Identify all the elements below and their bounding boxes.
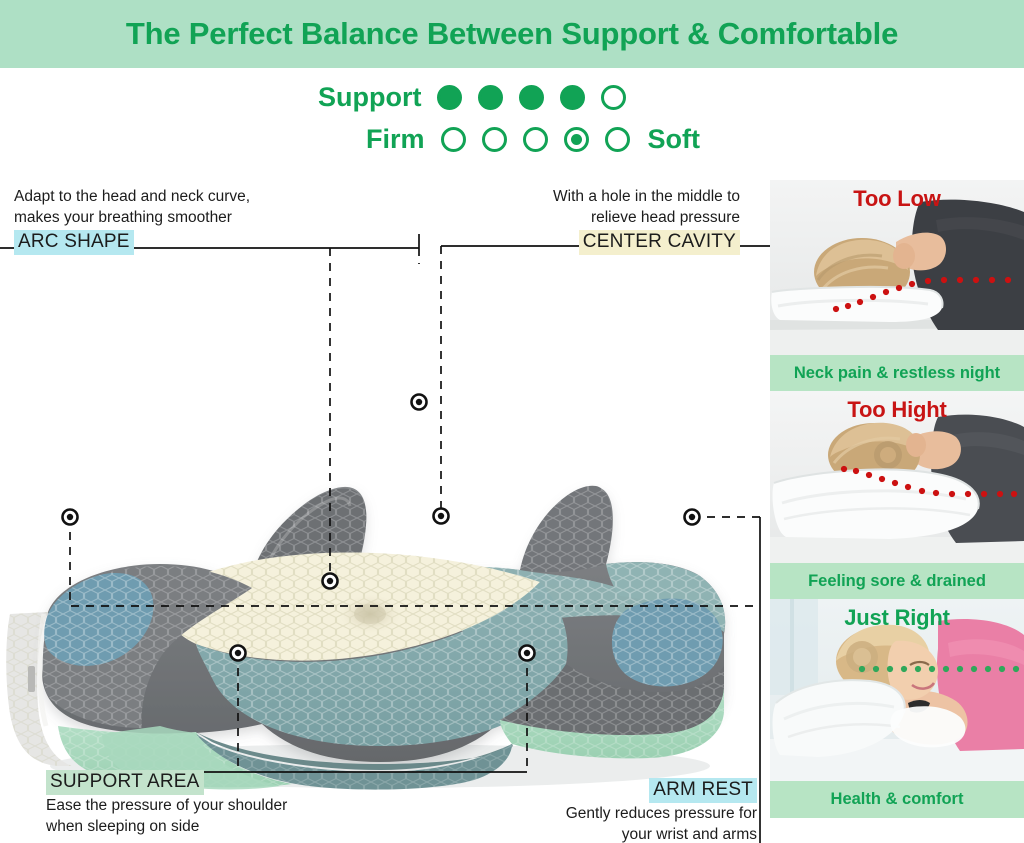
comparison-panel-just-right: Just Right Health & comfort — [770, 599, 1024, 818]
just-right-photo: Just Right — [770, 599, 1024, 781]
firmness-rating-row: Firm Soft — [366, 124, 700, 155]
page-title: The Perfect Balance Between Support & Co… — [126, 16, 898, 52]
header-banner: The Perfect Balance Between Support & Co… — [0, 0, 1024, 68]
support-rating-dots — [437, 85, 626, 110]
too-low-caption: Neck pain & restless night — [770, 355, 1024, 391]
support-area-tag: SUPPORT AREA — [46, 770, 204, 795]
callout-support-area: SUPPORT AREA Ease the pressure of your s… — [46, 769, 376, 838]
comparison-panel-too-high: Too Hight Feeling sore & drained — [770, 391, 1024, 599]
firmness-dot-5 — [605, 127, 630, 152]
support-area-description: Ease the pressure of your shoulder when … — [46, 795, 376, 838]
callout-center-cavity: With a hole in the middle to relieve hea… — [430, 186, 740, 255]
callout-arm-rest: ARM REST Gently reduces pressure for you… — [452, 777, 757, 843]
firmness-dot-2 — [482, 127, 507, 152]
product-diagram-area: Adapt to the head and neck curve, makes … — [0, 164, 770, 843]
callout-arc-shape: Adapt to the head and neck curve, makes … — [14, 186, 344, 255]
arc-shape-tag: ARC SHAPE — [14, 230, 134, 255]
too-high-heading: Too Hight — [770, 397, 1024, 423]
center-cavity-description: With a hole in the middle to relieve hea… — [430, 186, 740, 229]
too-low-heading: Too Low — [770, 186, 1024, 212]
rating-section: Support Firm Soft — [0, 72, 770, 164]
firmness-dot-4-selected — [564, 127, 589, 152]
support-dot-2 — [478, 85, 503, 110]
support-dot-4 — [560, 85, 585, 110]
arm-rest-tag: ARM REST — [649, 778, 757, 803]
firmness-rating-dots — [441, 127, 630, 152]
just-right-caption: Health & comfort — [770, 781, 1024, 818]
firmness-dot-1 — [441, 127, 466, 152]
too-high-photo: Too Hight — [770, 391, 1024, 563]
arm-rest-description: Gently reduces pressure for your wrist a… — [452, 803, 757, 843]
soft-label: Soft — [648, 124, 700, 155]
support-dot-1 — [437, 85, 462, 110]
support-rating-label: Support — [318, 82, 421, 113]
support-dot-5 — [601, 85, 626, 110]
too-high-caption: Feeling sore & drained — [770, 563, 1024, 599]
support-rating-row: Support — [318, 82, 626, 113]
pillow-illustration — [0, 314, 760, 814]
just-right-heading: Just Right — [770, 605, 1024, 631]
center-cavity-tag: CENTER CAVITY — [579, 230, 740, 255]
pillow-svg — [0, 314, 760, 814]
infographic-page: The Perfect Balance Between Support & Co… — [0, 0, 1024, 843]
comparison-column: Too Low Neck pain & restless night — [770, 180, 1024, 843]
arc-shape-description: Adapt to the head and neck curve, makes … — [14, 186, 344, 229]
too-low-photo: Too Low — [770, 180, 1024, 355]
comparison-panel-too-low: Too Low Neck pain & restless night — [770, 180, 1024, 391]
firmness-dot-3 — [523, 127, 548, 152]
firm-label: Firm — [366, 124, 425, 155]
support-dot-3 — [519, 85, 544, 110]
